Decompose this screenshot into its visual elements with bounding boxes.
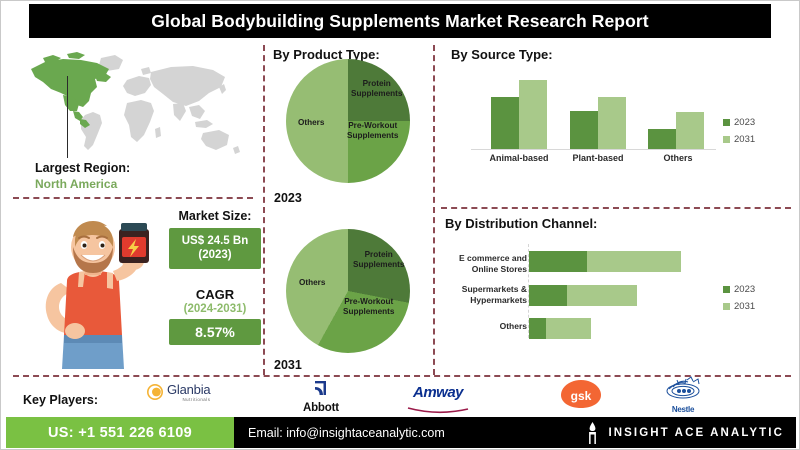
cagr-label: CAGR <box>169 287 261 302</box>
largest-region-label: Largest Region: <box>35 161 130 175</box>
insightace-logo-icon <box>586 422 599 444</box>
footer-brand: INSIGHT ACE ANALYTIC <box>586 422 784 444</box>
source-type-chart <box>471 71 711 149</box>
pie-2031-year: 2031 <box>274 358 302 372</box>
legend-label-dist-2023: 2023 <box>734 284 755 295</box>
pie-2023-year: 2023 <box>274 191 302 205</box>
cagr-years: (2024-2031) <box>169 303 261 315</box>
logo-abbott-text: Abbott <box>303 402 339 414</box>
source-type-cat-animal: Animal-based <box>479 153 559 163</box>
cagr-block: CAGR (2024-2031) 8.57% <box>169 287 261 345</box>
section-title-product-type: By Product Type: <box>273 47 380 62</box>
legend-item-dist-2031: 2031 <box>723 301 755 312</box>
abbott-mark-icon <box>312 379 330 397</box>
bar-others-2031 <box>676 112 704 149</box>
distribution-bar-others <box>529 318 591 339</box>
divider-horizontal-left <box>13 197 253 199</box>
market-size-year: (2023) <box>173 248 257 262</box>
logo-glanbia-sub: Nutritionals <box>167 397 210 402</box>
map-pointer-line <box>67 76 68 158</box>
distribution-legend: 2023 2031 <box>723 284 755 318</box>
distribution-bar-ecommerce-2023 <box>529 251 587 272</box>
legend-swatch-dist-2023 <box>723 286 730 293</box>
nestle-nest-icon <box>663 376 703 400</box>
distribution-label-supermarkets: Supermarkets &Hypermarkets <box>409 284 527 305</box>
pie-2023-label-others: Others <box>298 118 324 128</box>
world-map-svg <box>23 49 251 165</box>
world-map <box>23 49 251 165</box>
source-type-cat-plant: Plant-based <box>558 153 638 163</box>
distribution-bar-supermarkets-2031 <box>567 285 637 306</box>
logo-amway: Amway <box>407 384 469 419</box>
footer-phone: US: +1 551 226 6109 <box>6 417 234 448</box>
page-title: Global Bodybuilding Supplements Market R… <box>151 11 648 32</box>
pie-2023-label-protein: ProteinSupplements <box>351 79 402 98</box>
legend-swatch-2023 <box>723 119 730 126</box>
infographic-root: Global Bodybuilding Supplements Market R… <box>0 0 800 450</box>
pie-2031-label-preworkout: Pre-WorkoutSupplements <box>343 297 394 316</box>
bar-animal-2031 <box>519 80 547 149</box>
logo-nestle: Nestle <box>663 376 703 414</box>
divider-horizontal-right <box>441 207 791 209</box>
footer-bar: Email: info@insightaceanalytic.com INSIG… <box>234 417 796 448</box>
legend-swatch-dist-2031 <box>723 303 730 310</box>
pie-2031-label-protein: ProteinSupplements <box>353 250 404 269</box>
logo-gsk: gsk <box>559 379 603 414</box>
distribution-bar-supermarkets-2023 <box>529 285 567 306</box>
bar-others-2023 <box>648 129 676 149</box>
gsk-mark-icon: gsk <box>559 379 603 409</box>
gsk-text: gsk <box>571 389 592 403</box>
source-type-cat-others: Others <box>638 153 718 163</box>
legend-label-2031: 2031 <box>734 134 755 145</box>
market-size-block: Market Size: US$ 24.5 Bn (2023) <box>169 209 261 269</box>
logo-nestle-text: Nestle <box>663 405 703 414</box>
pie-2031-label-others: Others <box>299 278 325 288</box>
legend-swatch-2031 <box>723 136 730 143</box>
section-title-source-type: By Source Type: <box>451 47 553 62</box>
key-players-label: Key Players: <box>23 393 98 407</box>
distribution-bar-others-2031 <box>546 318 591 339</box>
largest-region-block: Largest Region: North America <box>35 161 130 191</box>
bar-plant-2031 <box>598 97 626 149</box>
distribution-label-ecommerce: E commerce andOnline Stores <box>409 253 527 274</box>
market-size-label: Market Size: <box>169 209 261 223</box>
cagr-value: 8.57% <box>169 319 261 345</box>
footer-brand-text: INSIGHT ACE ANALYTIC <box>608 427 784 439</box>
source-type-axis <box>471 149 716 150</box>
divider-vertical-left <box>263 45 265 375</box>
pie-chart-2031 <box>286 229 410 353</box>
distribution-bar-others-2023 <box>529 318 546 339</box>
legend-label-dist-2031: 2031 <box>734 301 755 312</box>
distribution-label-others: Others <box>409 321 527 332</box>
distribution-bar-ecommerce <box>529 251 681 272</box>
source-type-legend: 2023 2031 <box>723 117 755 151</box>
footer-email: Email: info@insightaceanalytic.com <box>248 426 445 440</box>
logo-glanbia: Glanbia Nutritionals <box>147 382 210 402</box>
pie-2023-label-preworkout: Pre-WorkoutSupplements <box>347 121 398 140</box>
legend-item-dist-2023: 2023 <box>723 284 755 295</box>
legend-item-2023: 2023 <box>723 117 755 128</box>
glanbia-mark-icon <box>147 384 163 400</box>
distribution-bar-ecommerce-2031 <box>587 251 681 272</box>
bar-animal-2023 <box>491 97 519 149</box>
logo-amway-text: Amway <box>407 384 469 401</box>
section-title-distribution-channel: By Distribution Channel: <box>445 216 597 231</box>
largest-region-value: North America <box>35 177 130 191</box>
legend-item-2031: 2031 <box>723 134 755 145</box>
bodybuilder-svg <box>23 217 163 369</box>
market-size-value: US$ 24.5 Bn <box>173 234 257 248</box>
legend-label-2023: 2023 <box>734 117 755 128</box>
bar-plant-2023 <box>570 111 598 149</box>
market-size-value-box: US$ 24.5 Bn (2023) <box>169 228 261 269</box>
header-bar: Global Bodybuilding Supplements Market R… <box>29 4 771 38</box>
logo-glanbia-text: Glanbia <box>167 382 210 397</box>
distribution-bar-supermarkets <box>529 285 637 306</box>
amway-swoosh-icon <box>407 407 469 414</box>
logo-abbott: Abbott <box>303 379 339 414</box>
bodybuilder-illustration <box>23 217 163 369</box>
